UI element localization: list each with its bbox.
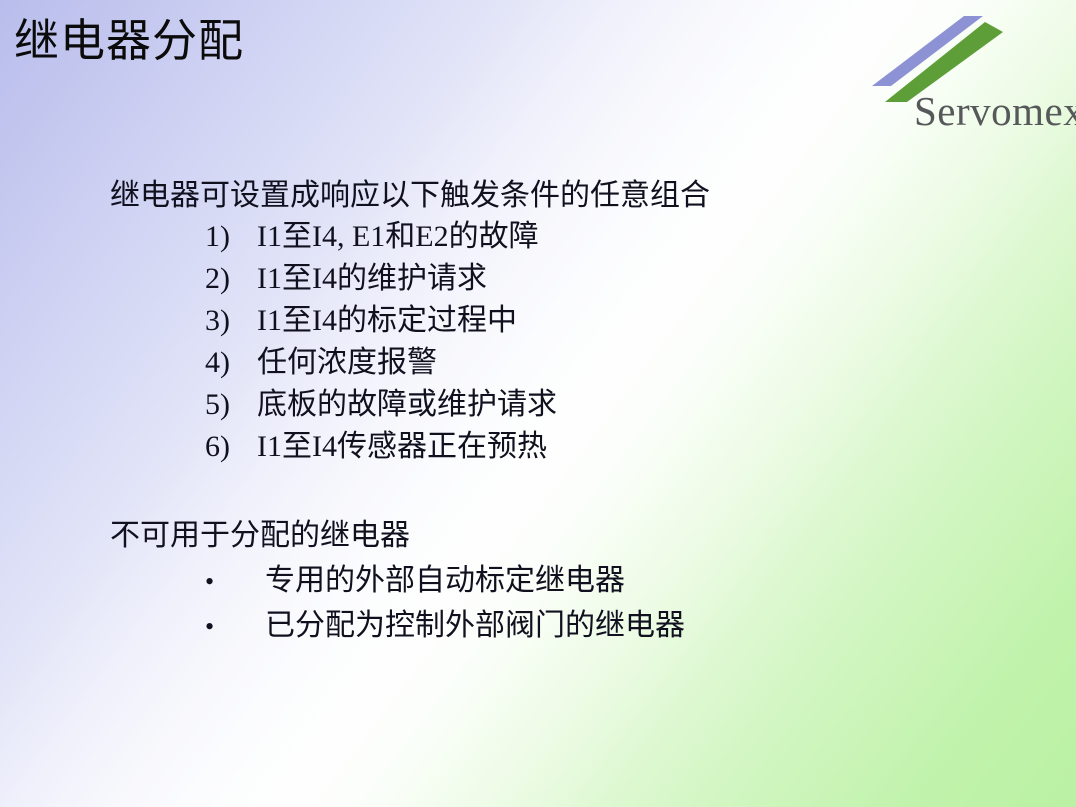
list-item: 6) I1至I4传感器正在预热 [205, 426, 965, 468]
lead-paragraph-1: 继电器可设置成响应以下触发条件的任意组合 [110, 176, 710, 216]
list-item-label: 专用的外部自动标定继电器 [265, 558, 625, 603]
list-item-label: I1至I4传感器正在预热 [257, 426, 547, 468]
bullet-icon: • [205, 559, 265, 604]
list-item-label: 任何浓度报警 [257, 342, 437, 384]
unavailable-relay-list: • 专用的外部自动标定继电器 • 已分配为控制外部阀门的继电器 [205, 558, 965, 648]
list-item-label: I1至I4的维护请求 [257, 258, 487, 300]
list-item-label: 底板的故障或维护请求 [257, 384, 557, 426]
list-item-label: I1至I4, E1和E2的故障 [257, 216, 539, 258]
list-item-label: 已分配为控制外部阀门的继电器 [265, 603, 685, 648]
list-item: 4) 任何浓度报警 [205, 342, 965, 384]
list-marker: 4) [205, 342, 257, 384]
list-marker: 2) [205, 258, 257, 300]
lead-paragraph-2: 不可用于分配的继电器 [110, 516, 410, 556]
bullet-icon: • [205, 604, 265, 649]
slide-canvas: 继电器分配 Servomex 继电器可设置成响应以下触发条件的任意组合 1) I… [0, 0, 1076, 807]
page-title: 继电器分配 [14, 12, 244, 70]
list-item-label: I1至I4的标定过程中 [257, 300, 517, 342]
list-item: 2) I1至I4的维护请求 [205, 258, 965, 300]
list-item: • 专用的外部自动标定继电器 [205, 558, 965, 603]
list-marker: 5) [205, 384, 257, 426]
list-item: 5) 底板的故障或维护请求 [205, 384, 965, 426]
trigger-condition-list: 1) I1至I4, E1和E2的故障 2) I1至I4的维护请求 3) I1至I… [205, 216, 965, 468]
list-item: 1) I1至I4, E1和E2的故障 [205, 216, 965, 258]
list-marker: 1) [205, 216, 257, 258]
servomex-logo: Servomex [852, 16, 1068, 132]
list-item: 3) I1至I4的标定过程中 [205, 300, 965, 342]
list-marker: 6) [205, 426, 257, 468]
brand-name: Servomex [914, 88, 1076, 134]
list-item: • 已分配为控制外部阀门的继电器 [205, 603, 965, 648]
list-marker: 3) [205, 300, 257, 342]
